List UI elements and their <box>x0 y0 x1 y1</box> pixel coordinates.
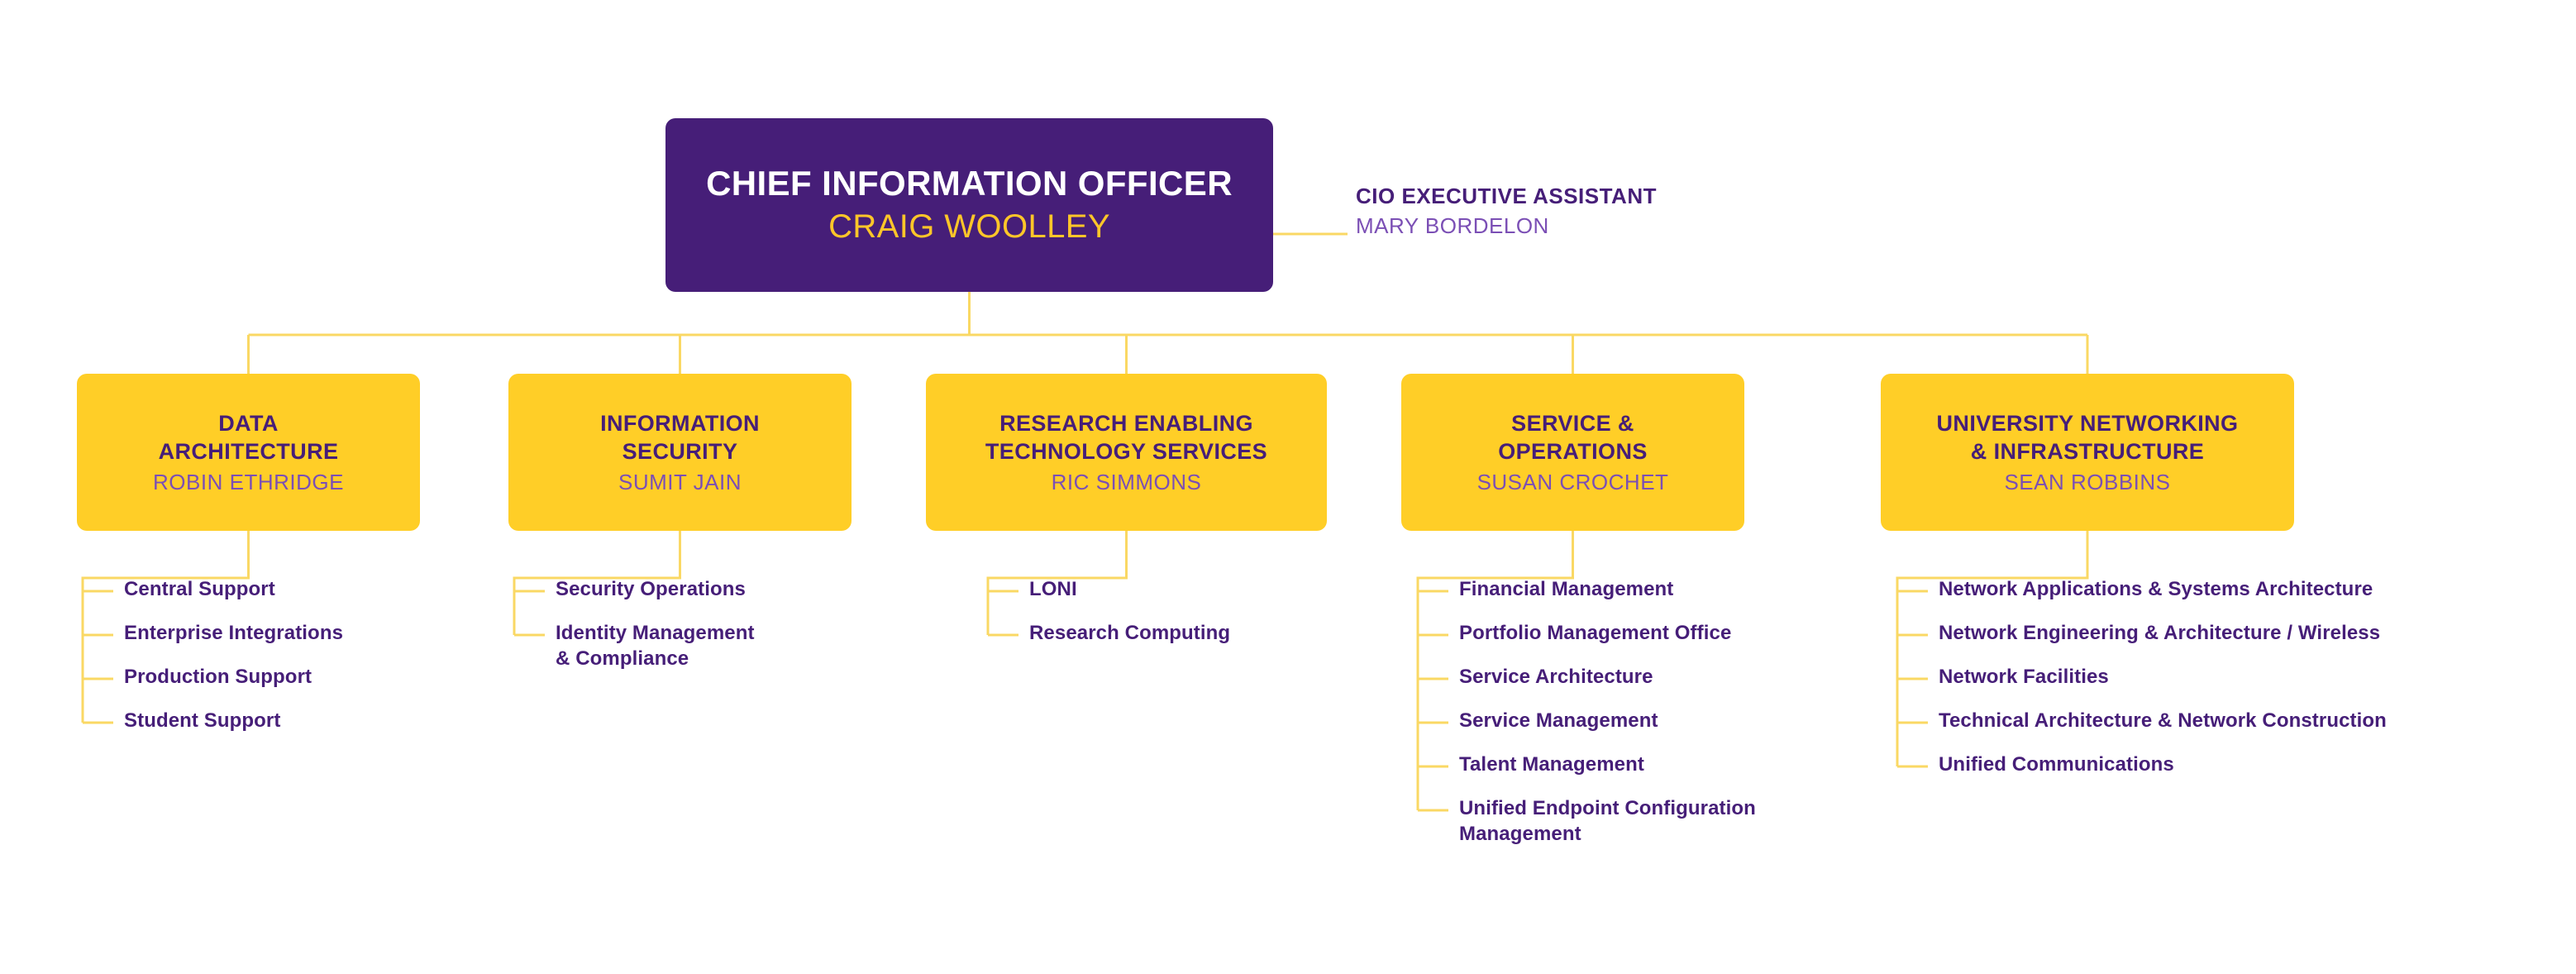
department-box[interactable]: UNIVERSITY NETWORKING& INFRASTRUCTURESEA… <box>1881 374 2294 531</box>
sub-unit-item[interactable]: Unified Communications <box>1939 752 2174 778</box>
department-lead-name: SUSAN CROCHET <box>1477 469 1669 496</box>
sub-unit-item[interactable]: Unified Endpoint ConfigurationManagement <box>1459 796 1756 847</box>
sub-unit-item[interactable]: Network Applications & Systems Architect… <box>1939 577 2373 603</box>
department-lead-name: SEAN ROBBINS <box>2004 469 2170 496</box>
sub-unit-item[interactable]: Central Support <box>124 577 275 603</box>
sub-unit-item[interactable]: Production Support <box>124 665 312 690</box>
department-lead-name: ROBIN ETHRIDGE <box>153 469 344 496</box>
cio-box[interactable]: CHIEF INFORMATION OFFICER CRAIG WOOLLEY <box>665 118 1273 292</box>
sub-unit-item[interactable]: Research Computing <box>1029 621 1230 647</box>
sub-unit-item[interactable]: Security Operations <box>556 577 746 603</box>
sub-unit-item[interactable]: Identity Management& Compliance <box>556 621 755 671</box>
sub-unit-item[interactable]: Student Support <box>124 709 280 734</box>
department-title: UNIVERSITY NETWORKING& INFRASTRUCTURE <box>1937 409 2239 466</box>
sub-unit-item[interactable]: Portfolio Management Office <box>1459 621 1731 647</box>
department-title: RESEARCH ENABLINGTECHNOLOGY SERVICES <box>985 409 1267 466</box>
cio-name: CRAIG WOOLLEY <box>828 208 1110 246</box>
sub-unit-item[interactable]: Financial Management <box>1459 577 1673 603</box>
sub-unit-item[interactable]: Technical Architecture & Network Constru… <box>1939 709 2387 734</box>
department-title: SERVICE &OPERATIONS <box>1498 409 1648 466</box>
department-title: INFORMATIONSECURITY <box>600 409 760 466</box>
department-title: DATAARCHITECTURE <box>159 409 339 466</box>
department-box[interactable]: INFORMATIONSECURITYSUMIT JAIN <box>508 374 852 531</box>
department-box[interactable]: DATAARCHITECTUREROBIN ETHRIDGE <box>77 374 420 531</box>
department-lead-name: RIC SIMMONS <box>1052 469 1202 496</box>
cio-title: CHIEF INFORMATION OFFICER <box>706 164 1233 203</box>
sub-unit-item[interactable]: Network Engineering & Architecture / Wir… <box>1939 621 2380 647</box>
assistant-title: CIO EXECUTIVE ASSISTANT <box>1356 184 1934 209</box>
department-box[interactable]: SERVICE &OPERATIONSSUSAN CROCHET <box>1401 374 1744 531</box>
assistant-name: MARY BORDELON <box>1356 213 1934 240</box>
department-lead-name: SUMIT JAIN <box>618 469 742 496</box>
sub-unit-item[interactable]: Talent Management <box>1459 752 1644 778</box>
org-chart: CHIEF INFORMATION OFFICER CRAIG WOOLLEY … <box>0 0 2576 974</box>
sub-unit-item[interactable]: Network Facilities <box>1939 665 2109 690</box>
department-box[interactable]: RESEARCH ENABLINGTECHNOLOGY SERVICESRIC … <box>926 374 1327 531</box>
sub-unit-item[interactable]: Service Management <box>1459 709 1658 734</box>
cio-executive-assistant: CIO EXECUTIVE ASSISTANT MARY BORDELON <box>1356 184 1934 240</box>
sub-unit-item[interactable]: Service Architecture <box>1459 665 1653 690</box>
sub-unit-item[interactable]: LONI <box>1029 577 1077 603</box>
sub-unit-item[interactable]: Enterprise Integrations <box>124 621 343 647</box>
